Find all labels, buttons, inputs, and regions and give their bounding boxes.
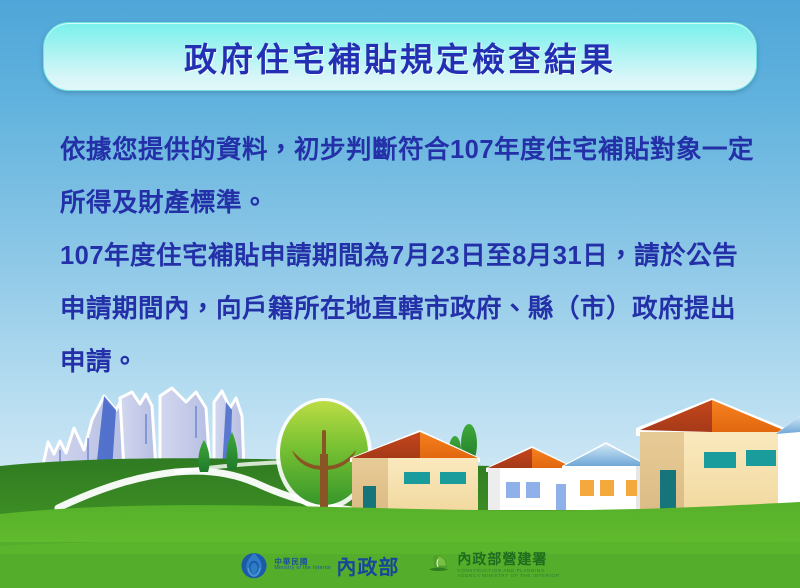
- construction-planning-agency-logo: 內政部營建署 CONSTRUCTION AND PLANNING AGENCY …: [425, 552, 559, 577]
- house-far-right: [776, 416, 800, 510]
- cpa-e-leaf-icon: [425, 554, 451, 576]
- large-tree: [276, 398, 372, 510]
- slide-canvas: 政府住宅補貼規定檢查結果 依據您提供的資料，初步判斷符合107年度住宅補貼對象一…: [0, 0, 800, 588]
- cpa-english-line-2: AGENCY MINISTRY OF THE INTERIOR: [457, 573, 559, 578]
- house-white-blue-roof: [562, 442, 650, 510]
- house-tan-large-right: [636, 398, 790, 510]
- house-tan-left: [350, 430, 480, 510]
- walking-path: [58, 471, 470, 511]
- mountain-range: [42, 388, 244, 470]
- cpa-chinese: 內政部營建署: [457, 552, 559, 567]
- paragraph-application-period: 107年度住宅補貼申請期間為7月23日至8月31日，請於公告申請期間內，向戶籍所…: [60, 230, 760, 389]
- cpa-wordmark: 內政部營建署 CONSTRUCTION AND PLANNING AGENCY …: [457, 552, 559, 577]
- house-white-orange-roof: [486, 446, 576, 510]
- moi-wordmark: 中華民國 Ministry of the Interior 內政部: [274, 551, 399, 580]
- moi-english-small: Ministry of the Interior: [274, 566, 331, 571]
- page-title: 政府住宅補貼規定檢查結果: [184, 33, 616, 81]
- ministry-of-interior-logo: 中華民國 Ministry of the Interior 內政部: [240, 551, 399, 580]
- title-banner: 政府住宅補貼規定檢查結果: [43, 22, 757, 91]
- message-body: 依據您提供的資料，初步判斷符合107年度住宅補貼對象一定所得及財產標準。 107…: [60, 124, 760, 389]
- walking-path-far: [176, 462, 300, 472]
- moi-small-text-block: 中華民國 Ministry of the Interior: [274, 558, 331, 571]
- footer-logo-bar: 中華民國 Ministry of the Interior 內政部 內政部營建署…: [0, 542, 800, 588]
- cypress-tree-group: [198, 424, 640, 498]
- moi-emblem-icon: [240, 551, 268, 579]
- paragraph-eligibility: 依據您提供的資料，初步判斷符合107年度住宅補貼對象一定所得及財產標準。: [60, 124, 760, 230]
- moi-chinese-large: 內政部: [336, 551, 399, 580]
